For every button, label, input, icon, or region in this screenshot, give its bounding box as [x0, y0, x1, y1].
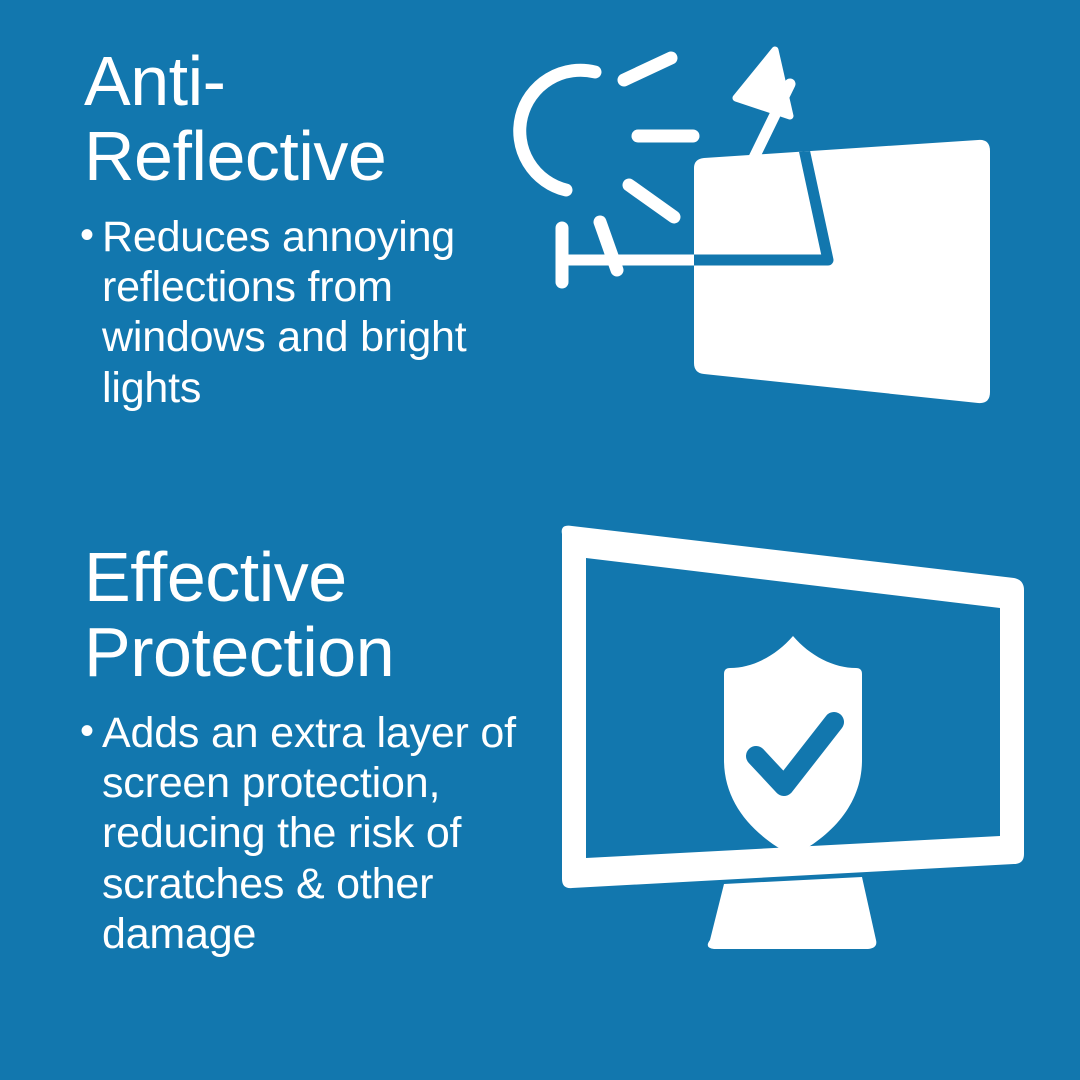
bullet-item: Adds an extra layer of screen protection…	[84, 708, 554, 959]
sun-arc	[520, 70, 595, 190]
arrowhead-icon	[736, 50, 790, 116]
monitor-stand	[708, 877, 877, 949]
bullet-list-effective-protection: Adds an extra layer of screen protection…	[84, 708, 554, 959]
bullet-item: Reduces annoying reflections from window…	[84, 212, 554, 413]
sun-reflection-screen-icon	[528, 44, 1048, 464]
sun-ray-upper-right	[624, 58, 671, 80]
sun-ray-lower-right	[629, 185, 674, 217]
sun-icon	[520, 58, 693, 282]
infographic-canvas: Anti- Reflective Reduces annoying reflec…	[0, 0, 1080, 1080]
feature-heading-effective-protection: Effective Protection	[84, 540, 554, 690]
feature-heading-anti-reflective: Anti- Reflective	[84, 44, 554, 194]
feature-text-effective-protection: Effective Protection Adds an extra layer…	[84, 540, 554, 959]
monitor-shield-check-icon	[538, 516, 1038, 966]
feature-text-anti-reflective: Anti- Reflective Reduces annoying reflec…	[84, 44, 554, 413]
bullet-list-anti-reflective: Reduces annoying reflections from window…	[84, 212, 554, 413]
shield-icon	[724, 636, 862, 856]
